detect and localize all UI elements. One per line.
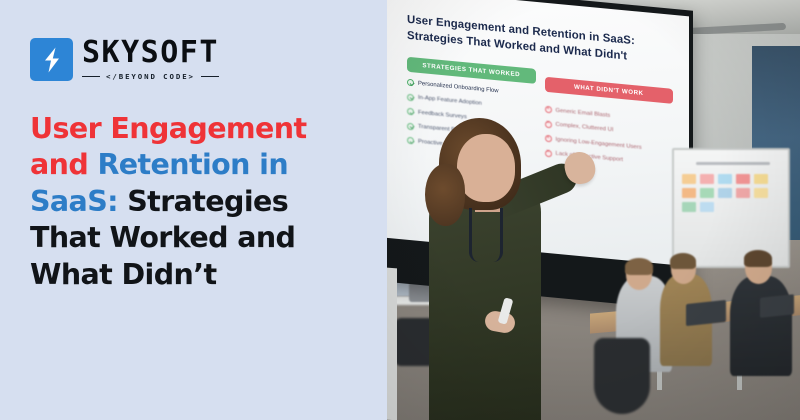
- sticky-note: [682, 202, 696, 212]
- sticky-note: [736, 188, 750, 198]
- attendee-laptop-1: [686, 300, 726, 326]
- presenter: [423, 90, 549, 420]
- headline-line-3b: Strategies: [127, 185, 288, 218]
- whiteboard: [672, 148, 790, 268]
- brand-name: SKYSOFT: [82, 38, 219, 69]
- blog-banner: SKYSOFT </BEYOND CODE> User Engagement a…: [0, 0, 800, 420]
- office-presentation-photo: User Engagement and Retention in SaaS: S…: [387, 0, 800, 420]
- lightning-bolt-icon: [43, 47, 61, 73]
- headline-line-4: That Worked and: [30, 221, 295, 254]
- slide-list-didnt: Generic Email Blasts Complex, Cluttered …: [545, 106, 674, 169]
- screen-stand: [387, 268, 397, 420]
- sticky-note: [718, 174, 732, 184]
- check-icon: [407, 79, 414, 87]
- tagline-rule-left: [82, 76, 100, 77]
- sticky-note: [736, 174, 750, 184]
- attendee-3-body: [730, 276, 792, 376]
- presenter-head: [457, 134, 515, 202]
- check-icon: [407, 94, 414, 102]
- whiteboard-sticky-notes: [682, 174, 780, 212]
- attendee-laptop-2: [760, 294, 794, 318]
- sticky-note: [700, 188, 714, 198]
- check-icon: [407, 137, 414, 145]
- brand-logo: SKYSOFT </BEYOND CODE>: [30, 38, 361, 81]
- headline-line-2a: and: [30, 148, 97, 181]
- slide-column-didnt: WHAT DIDN'T WORK Generic Email Blasts Co…: [545, 70, 674, 169]
- headline: User Engagement and Retention in SaaS: S…: [30, 111, 361, 293]
- slide-pill-didnt: WHAT DIDN'T WORK: [545, 77, 674, 104]
- attendee-3-hair: [744, 250, 772, 267]
- headline-line-1: User Engagement: [30, 112, 306, 145]
- sticky-note: [754, 188, 768, 198]
- presenter-lanyard: [469, 208, 503, 262]
- headline-line-2b: Retention in: [97, 148, 288, 181]
- brand-tagline: </BEYOND CODE>: [106, 72, 195, 81]
- brand-text: SKYSOFT </BEYOND CODE>: [82, 38, 219, 81]
- office-chair: [594, 338, 650, 414]
- presenter-hair-bun: [425, 164, 465, 226]
- sticky-note: [754, 174, 768, 184]
- left-text-panel: SKYSOFT </BEYOND CODE> User Engagement a…: [0, 0, 387, 420]
- tagline-rule-right: [201, 76, 219, 77]
- sticky-note: [682, 174, 696, 184]
- sticky-note: [700, 202, 714, 212]
- attendee-1-hair: [625, 258, 653, 275]
- brand-mark: [30, 38, 73, 81]
- sticky-note: [718, 188, 732, 198]
- check-icon: [407, 123, 414, 131]
- headline-line-3a: SaaS:: [30, 185, 127, 218]
- headline-line-5: What Didn’t: [30, 258, 216, 291]
- whiteboard-heading: [696, 162, 770, 165]
- check-icon: [407, 108, 414, 116]
- sticky-note: [700, 174, 714, 184]
- sticky-note: [682, 188, 696, 198]
- attendee-2-hair: [670, 253, 696, 269]
- brand-tagline-row: </BEYOND CODE>: [82, 72, 219, 81]
